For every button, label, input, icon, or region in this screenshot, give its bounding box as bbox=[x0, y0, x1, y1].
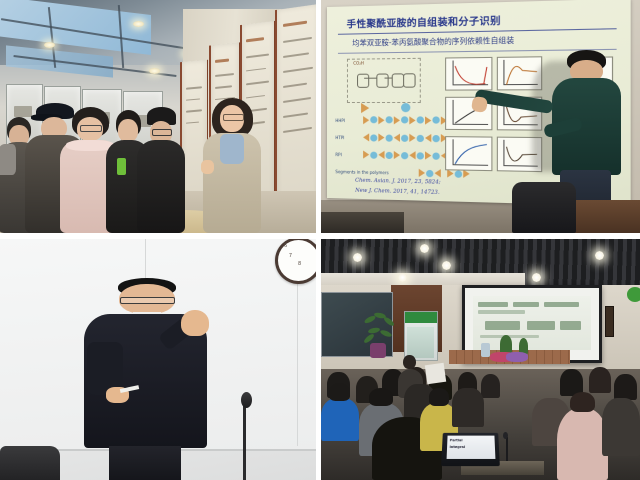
audience-member bbox=[589, 367, 611, 394]
trousers bbox=[109, 446, 181, 480]
segment-row-legend bbox=[419, 169, 470, 178]
segment-row-hhpi bbox=[364, 116, 448, 125]
laptop-screen-text-1: Partial bbox=[450, 438, 463, 442]
ceiling-spotlight bbox=[532, 273, 541, 282]
clock-numeral: 7 bbox=[289, 253, 292, 259]
segment-caption: Segments in the polymers bbox=[336, 170, 389, 176]
microphone-stand bbox=[506, 437, 508, 461]
speaker bbox=[76, 278, 215, 480]
ceiling-spotlight bbox=[420, 244, 429, 253]
photo-collage: 手性聚酰亚胺的自组装和分子识别 均苯双亚胺-苯丙氨酸聚合物的序列依赖性自组装 C… bbox=[0, 0, 640, 480]
slide-presentation-photo: 手性聚酰亚胺的自组装和分子识别 均苯双亚胺-苯丙氨酸聚合物的序列依赖性自组装 C… bbox=[321, 0, 640, 233]
water-bottle bbox=[481, 343, 491, 357]
structure-label: CO₂H bbox=[354, 61, 365, 66]
paper-sheet bbox=[425, 363, 447, 385]
office-chair bbox=[512, 182, 576, 233]
panel-exhibition-hall-tour bbox=[0, 0, 316, 233]
ceiling-spotlight bbox=[442, 261, 451, 270]
fridge-header bbox=[405, 312, 437, 323]
clock-numeral: 8 bbox=[298, 261, 301, 267]
visitor-with-beanie bbox=[136, 107, 187, 233]
segment-label-hhpi: HHPI bbox=[336, 118, 346, 123]
eyeglasses bbox=[120, 297, 175, 304]
ceiling-spotlight bbox=[133, 21, 144, 27]
wall-clock: 6 7 8 bbox=[275, 239, 316, 284]
laptop-screen: Partial Integral bbox=[446, 435, 495, 459]
furniture bbox=[321, 212, 404, 233]
ceiling-spotlight bbox=[149, 68, 160, 74]
chemical-structure-diagram: CO₂H bbox=[347, 57, 421, 102]
segment-label-rpi: RPI bbox=[336, 152, 342, 157]
raised-hand bbox=[181, 310, 209, 336]
exhibition-hall-photo bbox=[0, 0, 316, 233]
panel-audience: Partial Integral bbox=[321, 239, 640, 480]
slide-title: 手性聚酰亚胺的自组装和分子识别 bbox=[347, 9, 608, 30]
segment-row-htpi bbox=[364, 133, 448, 142]
segment-row-rpi bbox=[364, 151, 448, 160]
audience-member-pink-coat bbox=[557, 408, 608, 480]
potted-plant bbox=[359, 311, 404, 359]
podium bbox=[0, 446, 60, 480]
slide-citation-2: New J. Chem. 2017, 41, 14723. bbox=[355, 187, 440, 195]
audience-member bbox=[452, 388, 484, 427]
audience-member bbox=[481, 374, 500, 398]
flower-basket bbox=[506, 352, 528, 362]
audience-photo: Partial Integral bbox=[321, 239, 640, 480]
legend-circle-marker bbox=[401, 102, 410, 111]
audience-member-blue-jacket bbox=[321, 398, 359, 441]
microphone-stand bbox=[243, 403, 246, 480]
flower-pot bbox=[370, 343, 386, 357]
wall-frame bbox=[605, 306, 615, 337]
decoration bbox=[627, 287, 640, 301]
ceiling-spotlight bbox=[398, 273, 407, 282]
audience-member bbox=[602, 398, 640, 456]
audience-member bbox=[614, 374, 636, 401]
screen-content bbox=[473, 296, 591, 349]
plot-saturation-blue bbox=[446, 136, 493, 171]
microphone-head bbox=[241, 392, 252, 408]
laptop: Partial Integral bbox=[441, 433, 500, 466]
water-bottle bbox=[117, 158, 126, 174]
microphone-head bbox=[503, 432, 508, 439]
slide-citation-1: Chem. Asian. J. 2017, 23, 5824; bbox=[355, 178, 441, 186]
speaker-photo: 6 7 8 bbox=[0, 239, 316, 480]
clock-numeral: 6 bbox=[284, 243, 287, 249]
panel-slide-presentation: 手性聚酰亚胺的自组装和分子识别 均苯双亚胺-苯丙氨酸聚合物的序列依赖性自组装 C… bbox=[321, 0, 640, 233]
laptop-screen-text-2: Integral bbox=[450, 445, 466, 449]
legend-triangle-marker bbox=[361, 102, 369, 112]
panel-speaker: 6 7 8 bbox=[0, 239, 316, 480]
plot-decay-red bbox=[446, 56, 493, 90]
segment-label-htpi: HTPI bbox=[336, 135, 345, 140]
tour-guide bbox=[202, 98, 262, 233]
